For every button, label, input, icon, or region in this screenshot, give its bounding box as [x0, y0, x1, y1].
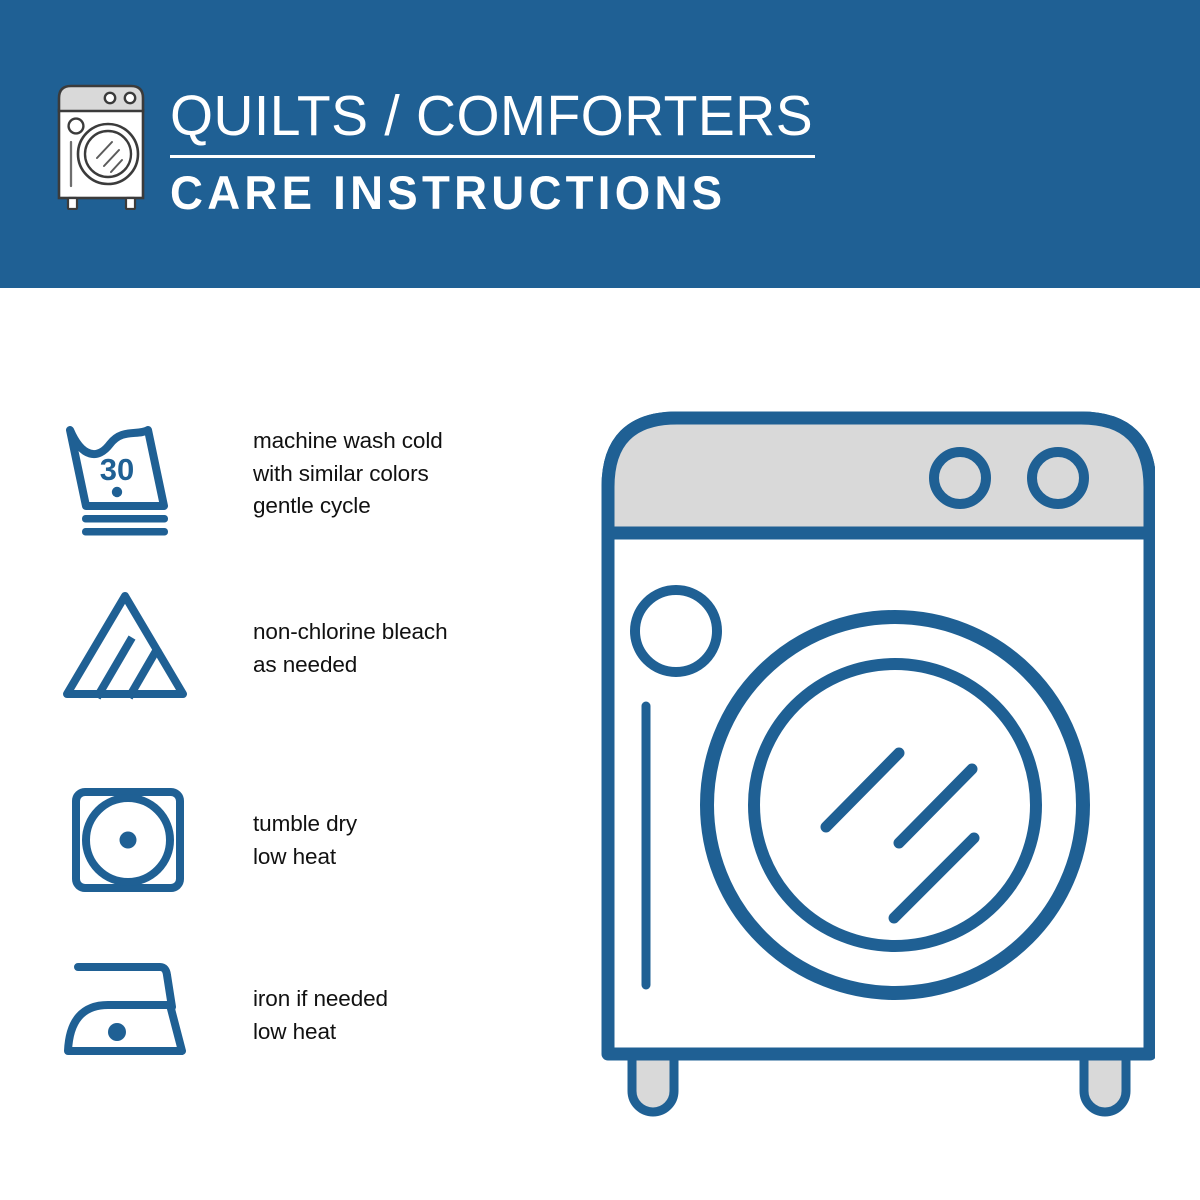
iron-low-heat-icon — [60, 955, 190, 1075]
wash-temperature-label: 30 — [100, 452, 134, 487]
care-instructions-page: QUILTS / COMFORTERS CARE INSTRUCTIONS 30 — [0, 0, 1200, 1200]
non-chlorine-bleach-icon — [60, 588, 190, 708]
care-text-machine-wash: machine wash cold with similar colors ge… — [253, 425, 443, 523]
washing-machine-illustration — [595, 405, 1155, 1120]
care-text-tumble-dry: tumble dry low heat — [253, 808, 357, 873]
machine-wash-30-gentle-icon: 30 — [60, 418, 190, 538]
care-symbol-list: 30 machine wash cold with similar colors… — [0, 0, 560, 1200]
care-text-bleach: non-chlorine bleach as needed — [253, 616, 447, 681]
tumble-dry-low-icon — [60, 782, 190, 902]
care-text-iron: iron if needed low heat — [253, 983, 388, 1048]
